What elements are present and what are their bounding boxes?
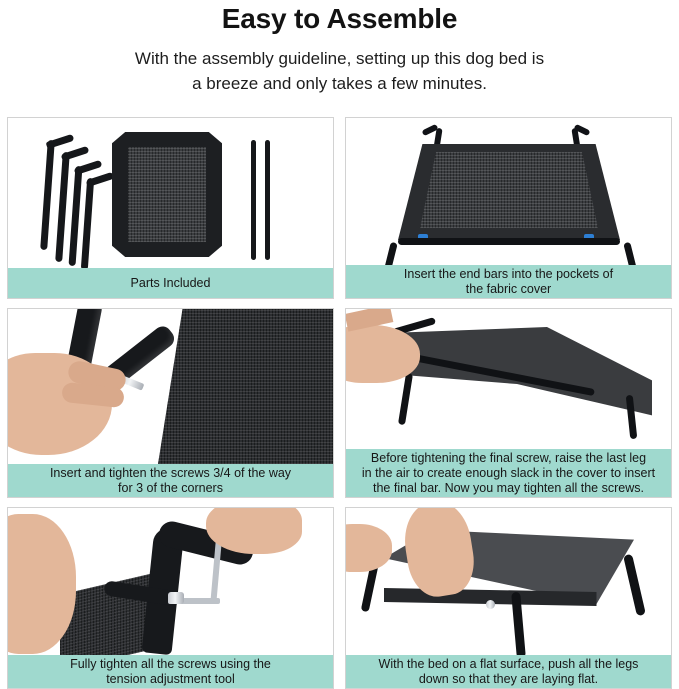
insert-end-bars-illustration (346, 118, 671, 265)
caption-line-1: Insert the end bars into the pockets of (404, 267, 613, 282)
leg-part-1 (40, 140, 55, 250)
caption-line-1: Before tightening the final screw, raise… (362, 451, 655, 466)
fabric-cover-part (112, 132, 222, 257)
step-panel-fully-tighten-screws: Fully tighten all the screws using the t… (7, 507, 334, 689)
assembly-infographic: Easy to Assemble With the assembly guide… (0, 0, 679, 674)
slack-fabric-cover (402, 327, 652, 419)
caption-text: Parts Included (131, 276, 211, 291)
leg-part-3 (69, 166, 83, 266)
leg-part-3-foot (74, 160, 103, 175)
corner-screw (486, 600, 495, 609)
screw-head (168, 592, 184, 604)
leg-part-4-foot (86, 172, 115, 187)
side-bar-part-1 (251, 140, 256, 260)
raise-leg-illustration (346, 309, 671, 449)
hand-pressing-right (399, 508, 479, 601)
caption-line-1: Fully tighten all the screws using the (70, 657, 271, 672)
step-panel-insert-tighten-screws: Insert and tighten the screws 3/4 of the… (7, 308, 334, 498)
front-leg-right (623, 242, 639, 265)
rear-right-leg (623, 554, 646, 616)
panel-caption: Before tightening the final screw, raise… (346, 449, 671, 497)
hand-pressing-left (346, 524, 392, 572)
fabric-cover-mesh (128, 147, 206, 242)
subtitle-line-1: With the assembly guideline, setting up … (70, 46, 610, 71)
panel-caption: Parts Included (8, 268, 333, 298)
step-panel-raise-last-leg: Before tightening the final screw, raise… (345, 308, 672, 498)
front-leg-left (381, 242, 397, 265)
front-rail (398, 238, 620, 245)
leg-part-2-foot (61, 146, 90, 161)
page-subtitle: With the assembly guideline, setting up … (70, 46, 610, 96)
leg-part-4 (81, 178, 94, 268)
mesh-fabric (158, 309, 333, 464)
tension-tool-illustration (8, 508, 333, 655)
caption-line-2: for 3 of the corners (50, 481, 291, 496)
steps-grid: Parts Included Insert the end bars int (7, 117, 672, 689)
insert-screw-illustration (8, 309, 333, 464)
panel-caption: With the bed on a flat surface, push all… (346, 655, 671, 688)
bed-deck-inner-mesh (420, 152, 598, 228)
subtitle-line-2: a breeze and only takes a few minutes. (70, 71, 610, 96)
page-title: Easy to Assemble (0, 2, 679, 36)
panel-caption: Insert the end bars into the pockets of … (346, 265, 671, 298)
step-panel-insert-end-bars: Insert the end bars into the pockets of … (345, 117, 672, 299)
panel-caption: Fully tighten all the screws using the t… (8, 655, 333, 688)
step-panel-parts-included: Parts Included (7, 117, 334, 299)
finished-bed-illustration (346, 508, 671, 655)
header: Easy to Assemble With the assembly guide… (0, 0, 679, 96)
left-standing-leg (398, 373, 413, 425)
panel-caption: Insert and tighten the screws 3/4 of the… (8, 464, 333, 497)
leg-part-2 (55, 152, 70, 262)
caption-line-3: the final bar. Now you may tighten all t… (362, 481, 655, 496)
side-bar-part-2 (265, 140, 270, 260)
caption-line-2: in the air to create enough slack in the… (362, 466, 655, 481)
caption-line-1: Insert and tighten the screws 3/4 of the… (50, 466, 291, 481)
leg-part-1-foot (46, 134, 75, 149)
parts-illustration (8, 118, 333, 268)
caption-line-2: the fabric cover (404, 282, 613, 297)
step-panel-push-legs-flat: With the bed on a flat surface, push all… (345, 507, 672, 689)
caption-line-1: With the bed on a flat surface, push all… (379, 657, 639, 672)
